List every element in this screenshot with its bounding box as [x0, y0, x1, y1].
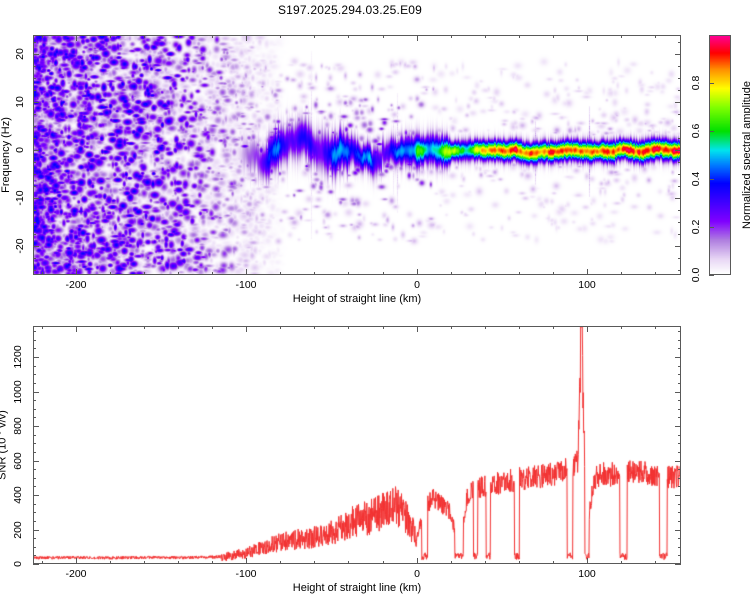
major-tick-x	[587, 269, 588, 275]
snr-y-axis-title-prefix: SNR (10	[0, 438, 8, 480]
minor-tick-x	[42, 326, 43, 329]
minor-tick-y	[33, 417, 36, 418]
major-tick-y	[33, 564, 39, 565]
figure-title: S197.2025.294.03.25.E09	[0, 3, 700, 17]
minor-tick-x	[383, 35, 384, 38]
minor-tick-y	[33, 340, 36, 341]
major-tick-y	[675, 426, 681, 427]
minor-tick-x	[451, 35, 452, 38]
major-tick-y	[33, 246, 39, 247]
minor-tick-x	[42, 272, 43, 275]
minor-tick-x	[621, 272, 622, 275]
minor-tick-y	[33, 234, 36, 235]
minor-tick-x	[280, 561, 281, 564]
major-tick-x	[246, 35, 247, 41]
minor-tick-y	[33, 162, 36, 163]
minor-tick-y	[33, 486, 36, 487]
minor-tick-y	[33, 138, 36, 139]
colorbar-tick	[709, 227, 714, 228]
minor-tick-y	[33, 555, 36, 556]
minor-tick-y	[33, 538, 36, 539]
major-tick-y	[33, 54, 39, 55]
minor-tick-x	[553, 35, 554, 38]
major-tick-y	[33, 392, 39, 393]
minor-tick-x	[314, 326, 315, 329]
minor-tick-y	[678, 348, 681, 349]
major-tick-x	[76, 35, 77, 41]
minor-tick-y	[33, 383, 36, 384]
colorbar-tick-label: 0.8	[690, 76, 702, 91]
colorbar-tick	[709, 83, 714, 84]
minor-tick-y	[678, 340, 681, 341]
minor-tick-y	[678, 417, 681, 418]
major-tick-x	[246, 326, 247, 332]
minor-tick-y	[678, 547, 681, 548]
major-tick-y	[675, 530, 681, 531]
minor-tick-y	[678, 443, 681, 444]
minor-tick-x	[485, 272, 486, 275]
major-tick-x	[587, 558, 588, 564]
y-tick-label: 400	[12, 486, 24, 504]
spectrogram-x-axis-title: Height of straight line (km)	[293, 293, 421, 305]
figure-root: S197.2025.294.03.25.E09 -200-1000100-20-…	[0, 0, 750, 600]
minor-tick-y	[678, 486, 681, 487]
minor-tick-x	[212, 35, 213, 38]
major-tick-x	[76, 269, 77, 275]
spectrogram-y-axis-title: Frequency (Hz)	[0, 117, 12, 193]
major-tick-y	[675, 54, 681, 55]
snr-y-axis-title-suffix: v/v)	[0, 410, 8, 431]
major-tick-x	[246, 558, 247, 564]
y-tick-label: 200	[12, 521, 24, 539]
major-tick-x	[417, 269, 418, 275]
minor-tick-x	[519, 326, 520, 329]
colorbar-tick-label: 0.4	[690, 172, 702, 187]
minor-tick-x	[178, 272, 179, 275]
minor-tick-x	[519, 561, 520, 564]
minor-tick-y	[678, 521, 681, 522]
minor-tick-y	[33, 222, 36, 223]
minor-tick-y	[33, 186, 36, 187]
minor-tick-x	[348, 272, 349, 275]
minor-tick-x	[655, 326, 656, 329]
y-tick-label: 600	[12, 452, 24, 470]
minor-tick-x	[212, 326, 213, 329]
major-tick-y	[675, 495, 681, 496]
minor-tick-y	[678, 90, 681, 91]
y-tick-label: 800	[12, 417, 24, 435]
minor-tick-y	[33, 66, 36, 67]
minor-tick-y	[33, 374, 36, 375]
minor-tick-y	[33, 270, 36, 271]
snr-y-axis-title: SNR (10-6 v/v)	[0, 410, 8, 480]
major-tick-y	[33, 530, 39, 531]
minor-tick-y	[678, 478, 681, 479]
minor-tick-x	[621, 326, 622, 329]
minor-tick-y	[33, 210, 36, 211]
minor-tick-y	[33, 348, 36, 349]
minor-tick-x	[280, 272, 281, 275]
minor-tick-y	[678, 222, 681, 223]
minor-tick-y	[33, 114, 36, 115]
minor-tick-y	[678, 400, 681, 401]
minor-tick-y	[33, 90, 36, 91]
x-tick-label: -100	[235, 279, 256, 291]
minor-tick-x	[348, 326, 349, 329]
major-tick-y	[33, 495, 39, 496]
minor-tick-x	[314, 272, 315, 275]
major-tick-x	[417, 35, 418, 41]
y-tick-label: -20	[14, 238, 26, 253]
minor-tick-y	[678, 186, 681, 187]
y-tick-label: 1200	[12, 345, 24, 368]
spectrogram-plot-area	[33, 35, 681, 275]
y-tick-label: 0	[12, 561, 24, 567]
snr-plot-area	[33, 326, 681, 564]
minor-tick-y	[678, 555, 681, 556]
minor-tick-y	[678, 42, 681, 43]
major-tick-y	[33, 461, 39, 462]
minor-tick-x	[553, 561, 554, 564]
minor-tick-x	[42, 561, 43, 564]
minor-tick-x	[314, 561, 315, 564]
colorbar-tick-label: 0.2	[690, 220, 702, 235]
major-tick-y	[675, 392, 681, 393]
minor-tick-y	[33, 409, 36, 410]
minor-tick-x	[144, 326, 145, 329]
minor-tick-x	[42, 35, 43, 38]
minor-tick-x	[451, 272, 452, 275]
colorbar-tick-label: 0.0	[690, 268, 702, 283]
minor-tick-x	[553, 326, 554, 329]
major-tick-y	[675, 357, 681, 358]
minor-tick-x	[314, 35, 315, 38]
major-tick-y	[675, 102, 681, 103]
y-tick-label: 0	[14, 147, 26, 153]
major-tick-x	[76, 558, 77, 564]
minor-tick-x	[485, 561, 486, 564]
snr-x-axis-title: Height of straight line (km)	[293, 582, 421, 594]
minor-tick-y	[678, 409, 681, 410]
colorbar-canvas	[710, 36, 730, 274]
minor-tick-x	[212, 561, 213, 564]
minor-tick-x	[280, 326, 281, 329]
major-tick-y	[675, 461, 681, 462]
minor-tick-y	[33, 478, 36, 479]
minor-tick-x	[144, 35, 145, 38]
major-tick-y	[33, 150, 39, 151]
minor-tick-x	[348, 35, 349, 38]
major-tick-x	[587, 326, 588, 332]
minor-tick-x	[485, 35, 486, 38]
snr-y-axis-title-exponent: -6	[0, 431, 3, 438]
minor-tick-x	[655, 272, 656, 275]
minor-tick-y	[678, 78, 681, 79]
minor-tick-y	[678, 504, 681, 505]
major-tick-y	[33, 426, 39, 427]
snr-line-series	[34, 327, 680, 563]
minor-tick-x	[144, 561, 145, 564]
colorbar-tick	[709, 179, 714, 180]
minor-tick-y	[678, 174, 681, 175]
minor-tick-y	[33, 174, 36, 175]
minor-tick-x	[519, 272, 520, 275]
minor-tick-x	[348, 561, 349, 564]
y-tick-label: 10	[14, 96, 26, 108]
minor-tick-x	[383, 326, 384, 329]
x-tick-label: 0	[414, 279, 420, 291]
minor-tick-y	[678, 234, 681, 235]
minor-tick-x	[178, 326, 179, 329]
minor-tick-x	[144, 272, 145, 275]
colorbar-tick	[709, 275, 714, 276]
minor-tick-x	[280, 35, 281, 38]
minor-tick-y	[678, 366, 681, 367]
y-tick-label: 1000	[12, 380, 24, 403]
major-tick-y	[33, 357, 39, 358]
minor-tick-y	[33, 443, 36, 444]
minor-tick-y	[33, 331, 36, 332]
x-tick-label: -100	[235, 568, 256, 580]
minor-tick-x	[110, 561, 111, 564]
minor-tick-y	[33, 42, 36, 43]
minor-tick-x	[178, 561, 179, 564]
x-tick-label: 100	[578, 568, 596, 580]
minor-tick-y	[678, 374, 681, 375]
minor-tick-y	[33, 521, 36, 522]
major-tick-y	[675, 198, 681, 199]
minor-tick-y	[678, 435, 681, 436]
minor-tick-x	[178, 35, 179, 38]
major-tick-x	[417, 326, 418, 332]
minor-tick-x	[485, 326, 486, 329]
major-tick-y	[33, 102, 39, 103]
minor-tick-y	[33, 469, 36, 470]
major-tick-y	[675, 246, 681, 247]
major-tick-y	[675, 564, 681, 565]
y-tick-label: 20	[14, 48, 26, 60]
minor-tick-y	[33, 435, 36, 436]
y-tick-label: -10	[14, 190, 26, 205]
minor-tick-y	[678, 469, 681, 470]
minor-tick-y	[678, 162, 681, 163]
x-tick-label: -200	[65, 279, 86, 291]
minor-tick-x	[655, 35, 656, 38]
minor-tick-y	[33, 258, 36, 259]
minor-tick-y	[33, 78, 36, 79]
minor-tick-y	[33, 547, 36, 548]
minor-tick-y	[678, 452, 681, 453]
minor-tick-y	[33, 512, 36, 513]
major-tick-y	[675, 150, 681, 151]
minor-tick-x	[110, 326, 111, 329]
minor-tick-x	[621, 561, 622, 564]
x-tick-label: 0	[414, 568, 420, 580]
minor-tick-y	[33, 452, 36, 453]
major-tick-x	[417, 558, 418, 564]
minor-tick-y	[678, 66, 681, 67]
major-tick-x	[246, 269, 247, 275]
colorbar-gradient	[709, 35, 731, 275]
minor-tick-x	[212, 272, 213, 275]
minor-tick-x	[383, 561, 384, 564]
minor-tick-y	[33, 126, 36, 127]
minor-tick-x	[519, 35, 520, 38]
minor-tick-x	[451, 326, 452, 329]
minor-tick-x	[110, 272, 111, 275]
minor-tick-y	[678, 331, 681, 332]
minor-tick-y	[33, 400, 36, 401]
major-tick-x	[76, 326, 77, 332]
minor-tick-y	[678, 210, 681, 211]
minor-tick-x	[383, 272, 384, 275]
minor-tick-y	[678, 126, 681, 127]
colorbar-tick	[709, 131, 714, 132]
colorbar-title: Normalized spectral amplitude	[741, 81, 750, 229]
x-tick-label: 100	[578, 279, 596, 291]
minor-tick-y	[678, 512, 681, 513]
major-tick-y	[33, 198, 39, 199]
minor-tick-y	[678, 114, 681, 115]
x-tick-label: -200	[65, 568, 86, 580]
spectrogram-image	[34, 36, 680, 274]
minor-tick-y	[33, 504, 36, 505]
minor-tick-y	[678, 383, 681, 384]
minor-tick-y	[678, 258, 681, 259]
minor-tick-x	[553, 272, 554, 275]
minor-tick-x	[621, 35, 622, 38]
minor-tick-y	[678, 138, 681, 139]
minor-tick-y	[678, 538, 681, 539]
major-tick-x	[587, 35, 588, 41]
colorbar-tick-label: 0.6	[690, 124, 702, 139]
minor-tick-x	[655, 561, 656, 564]
minor-tick-y	[33, 366, 36, 367]
minor-tick-y	[678, 270, 681, 271]
minor-tick-x	[451, 561, 452, 564]
minor-tick-x	[110, 35, 111, 38]
